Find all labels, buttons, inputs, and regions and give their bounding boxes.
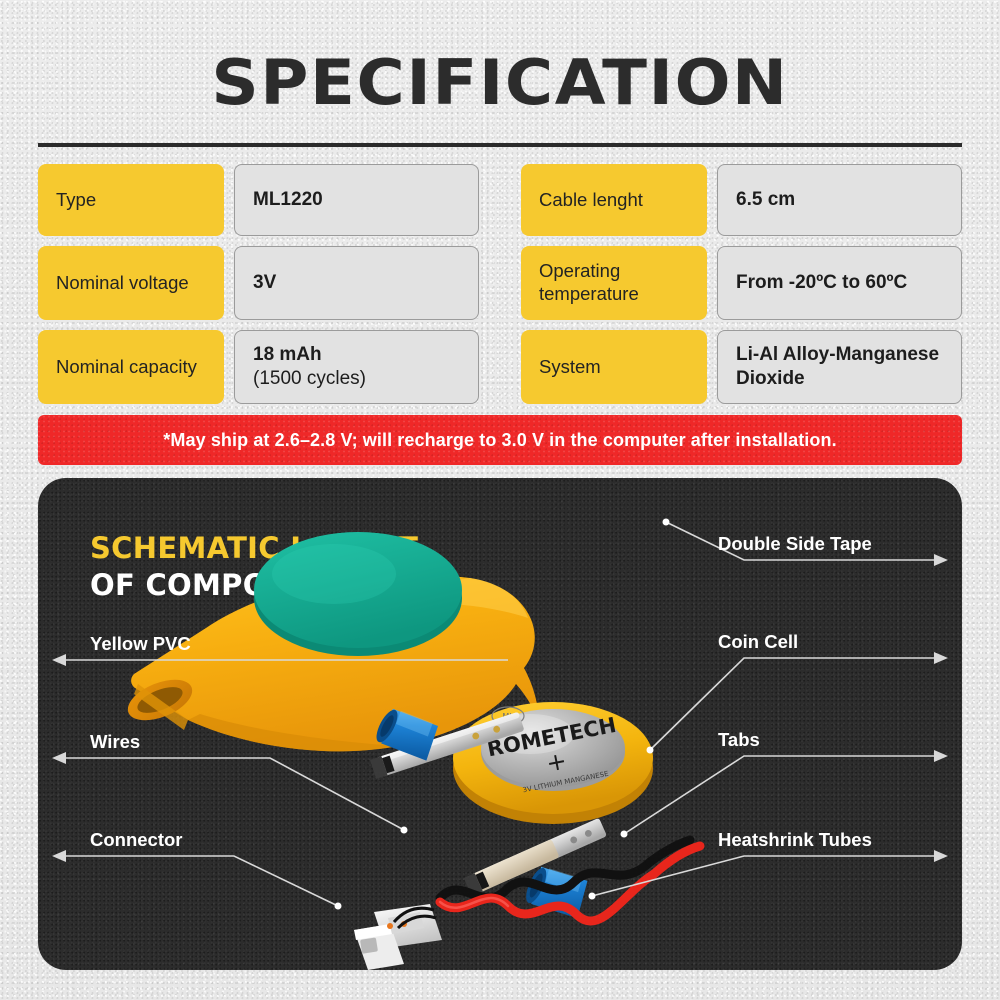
coin-cell-illustration: ROMETECH + 3V LITHIUM MANGANESE ML bbox=[453, 702, 653, 824]
spec-row-nominal-voltage: Nominal voltage 3V bbox=[38, 246, 479, 320]
spec-value-operating-temperature-text: From -20ºC to 60ºC bbox=[736, 271, 907, 295]
double-side-tape-illustration bbox=[254, 532, 462, 656]
spec-value-system-text: Li-Al Alloy-Manganese Dioxide bbox=[736, 343, 943, 391]
spec-row-operating-temperature: Operating temperature From -20ºC to 60ºC bbox=[521, 246, 962, 320]
spec-value-nominal-voltage-text: 3V bbox=[253, 271, 276, 295]
spec-value-operating-temperature: From -20ºC to 60ºC bbox=[717, 246, 962, 320]
spec-value-cable-length-text: 6.5 cm bbox=[736, 188, 795, 212]
spec-row-cable-length: Cable lenght 6.5 cm bbox=[521, 164, 962, 236]
voltage-notice-text: *May ship at 2.6–2.8 V; will recharge to… bbox=[163, 430, 836, 451]
spec-value-type-text: ML1220 bbox=[253, 188, 323, 212]
callout-label-yellow-pvc: Yellow PVC bbox=[90, 633, 191, 655]
spec-key-system: System bbox=[521, 330, 707, 404]
spec-value-nominal-capacity: 18 mAh (1500 cycles) bbox=[234, 330, 479, 404]
spec-value-type: ML1220 bbox=[234, 164, 479, 236]
spec-key-cable-length: Cable lenght bbox=[521, 164, 707, 236]
spec-key-type: Type bbox=[38, 164, 224, 236]
spec-row-nominal-capacity: Nominal capacity 18 mAh (1500 cycles) bbox=[38, 330, 479, 404]
spec-key-nominal-capacity: Nominal capacity bbox=[38, 330, 224, 404]
page-title: SPECIFICATION bbox=[0, 46, 1000, 119]
title-divider bbox=[38, 143, 962, 147]
spec-key-operating-temperature: Operating temperature bbox=[521, 246, 707, 320]
spec-value-cable-length: 6.5 cm bbox=[717, 164, 962, 236]
spec-value-nominal-capacity-cycles: (1500 cycles) bbox=[253, 367, 366, 391]
callout-label-heatshrink-tubes: Heatshrink Tubes bbox=[718, 829, 872, 851]
callout-label-tabs: Tabs bbox=[718, 729, 760, 751]
spec-key-nominal-voltage: Nominal voltage bbox=[38, 246, 224, 320]
callout-label-coin-cell: Coin Cell bbox=[718, 631, 798, 653]
spec-value-nominal-capacity-text: 18 mAh bbox=[253, 343, 366, 367]
spec-value-system: Li-Al Alloy-Manganese Dioxide bbox=[717, 330, 962, 404]
callout-label-wires: Wires bbox=[90, 731, 140, 753]
spec-row-type: Type ML1220 bbox=[38, 164, 479, 236]
callout-label-connector: Connector bbox=[90, 829, 183, 851]
specification-table: Type ML1220 Cable lenght 6.5 cm Nominal … bbox=[38, 164, 962, 404]
callout-label-double-side-tape: Double Side Tape bbox=[718, 533, 872, 555]
spec-value-nominal-voltage: 3V bbox=[234, 246, 479, 320]
schematic-panel: SCHEMATIC LAYOUT OF COMPONENTS bbox=[38, 478, 962, 970]
voltage-notice-banner: *May ship at 2.6–2.8 V; will recharge to… bbox=[38, 415, 962, 465]
connector-illustration bbox=[354, 904, 442, 970]
spec-row-system: System Li-Al Alloy-Manganese Dioxide bbox=[521, 330, 962, 404]
